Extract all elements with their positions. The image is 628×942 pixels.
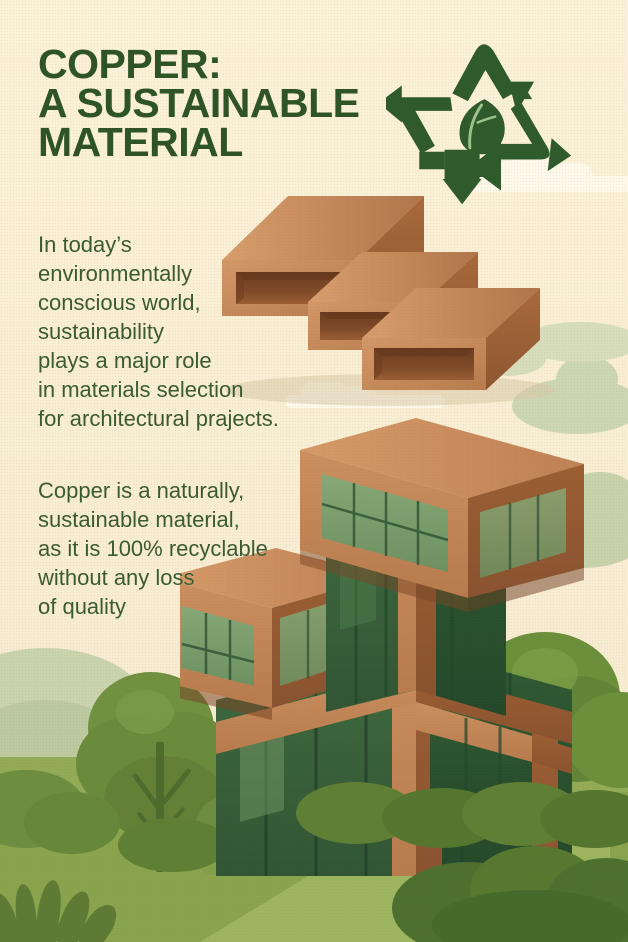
para2-line-3: as it is 100% recyclable: [38, 534, 338, 563]
para2-line-4: without any loss: [38, 563, 338, 592]
page-title: COPPER: A SUSTAINABLE MATERIAL: [38, 45, 383, 162]
para1-line-6: in materials selection: [38, 375, 338, 404]
para2-line-1: Copper is a naturally,: [38, 476, 338, 505]
headline-line-3: MATERIAL: [38, 123, 383, 162]
para1-line-1: In today’s: [38, 230, 338, 259]
para2-line-5: of quality: [38, 592, 338, 621]
poster: COPPER: A SUSTAINABLE MATERIAL: [0, 0, 628, 942]
para1-line-4: sustainability: [38, 317, 338, 346]
para1-line-7: for architectural prajects.: [38, 404, 338, 433]
body-paragraph-1: In today’s environmentally conscious wor…: [38, 230, 338, 433]
body-paragraph-2: Copper is a naturally, sustainable mater…: [38, 476, 338, 621]
para2-line-2: sustainable material,: [38, 505, 338, 534]
para1-line-5: plays a major role: [38, 346, 338, 375]
recycling-icon: [386, 33, 581, 213]
tree-left-canopy-highlight: [116, 690, 174, 734]
para1-line-3: conscious world,: [38, 288, 338, 317]
headline-line-1: COPPER:: [38, 45, 383, 84]
para1-line-2: environmentally: [38, 259, 338, 288]
bush-left-2: [24, 792, 120, 854]
headline-line-2: A SUSTAINABLE: [38, 84, 383, 123]
